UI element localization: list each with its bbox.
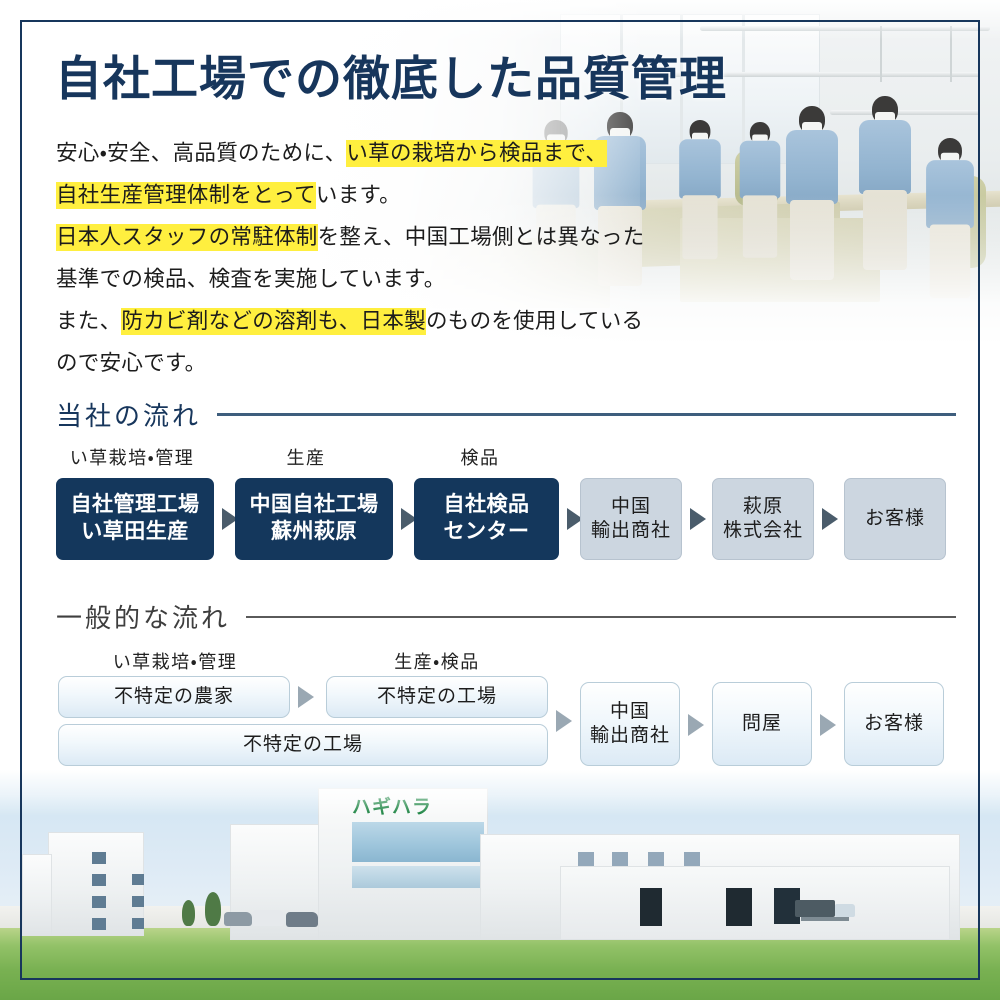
flow-step-box[interactable]: 中国 輸出商社 bbox=[580, 682, 680, 766]
flow-arrow-icon bbox=[298, 686, 314, 708]
flow-step-box-span[interactable]: 不特定の工場 bbox=[58, 724, 548, 766]
flow-step-box[interactable]: 問屋 bbox=[712, 682, 812, 766]
flow-arrow-icon bbox=[556, 710, 572, 732]
flow-column-label: 生産・検品 bbox=[352, 648, 522, 674]
infographic-page: ハギハラ 自社工場での徹底した品質管理 安心・安全、高品質のために、い草の栽培か… bbox=[0, 0, 1000, 1000]
flow-arrow-icon bbox=[820, 714, 836, 736]
flow-arrow-icon bbox=[688, 714, 704, 736]
flow-step-box[interactable]: お客様 bbox=[844, 682, 944, 766]
flow-column-label: い草栽培・管理 bbox=[90, 648, 260, 674]
general-flow-diagram: い草栽培・管理 生産・検品 不特定の農家 不特定の工場 不特定の工場 中国 輸出… bbox=[0, 0, 1000, 1000]
content-layer: 自社工場での徹底した品質管理 安心・安全、高品質のために、い草の栽培から検品まで… bbox=[0, 0, 1000, 1000]
flow-step-box[interactable]: 不特定の農家 bbox=[58, 676, 290, 718]
flow-step-box[interactable]: 不特定の工場 bbox=[326, 676, 548, 718]
